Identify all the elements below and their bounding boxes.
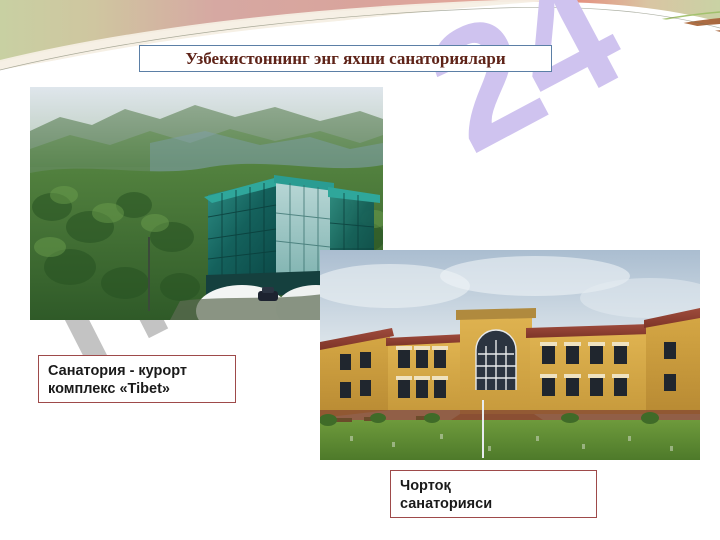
- caption-chortoq-line1: Чортоқ: [400, 477, 587, 495]
- caption-tibet: Санатория - курорт комплекс «Tibet»: [38, 355, 236, 403]
- caption-chortoq: Чортоқ санаторияси: [390, 470, 597, 518]
- photo-chortoq: [320, 250, 700, 460]
- page-title: Узбекистоннинг энг яхши санаториялари: [185, 49, 505, 69]
- slide: 24 HSR Узбекистоннинг энг яхши санатория…: [0, 0, 720, 540]
- caption-tibet-line1: Санатория - курорт: [48, 362, 226, 380]
- caption-chortoq-line2: санаторияси: [400, 495, 587, 513]
- caption-tibet-line2: комплекс «Tibet»: [48, 380, 226, 398]
- slide-title-box: Узбекистоннинг энг яхши санаториялари: [139, 45, 552, 72]
